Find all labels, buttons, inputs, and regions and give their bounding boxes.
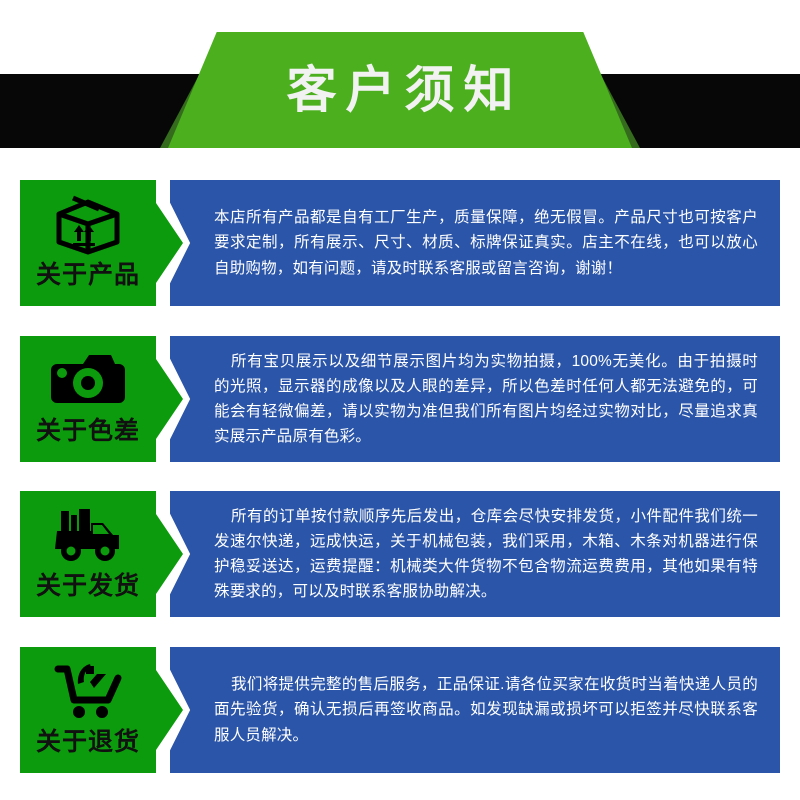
forklift-truck-icon — [44, 500, 132, 570]
icon-label-color: 关于色差 — [36, 419, 140, 444]
notice-text-shipping: 所有的订单按付款顺序先后发出，仓库会尽快安排发货，小件配件我们统一发速尔快递，远… — [214, 504, 758, 604]
icon-label-shipping: 关于发货 — [36, 574, 140, 599]
ribbon-banner: 客户须知 — [168, 32, 632, 148]
notice-text-color: 所有宝贝展示以及细节展示图片均为实物拍摄，100%无美化。由于拍摄时的光照，显示… — [214, 349, 758, 449]
icon-block-return: 关于退货 — [20, 647, 156, 773]
notice-text-product: 本店所有产品都是自有工厂生产，质量保障，绝无假冒。产品尺寸也可按客户要求定制，所… — [214, 205, 758, 280]
notice-text-return: 我们将提供完整的售后服务，正品保证.请各位买家在收货时当着快递人员的面先验货，确… — [214, 672, 758, 747]
text-panel-shipping: 所有的订单按付款顺序先后发出，仓库会尽快安排发货，小件配件我们统一发速尔快递，远… — [170, 491, 780, 617]
notice-section-color: 关于色差 所有宝贝展示以及细节展示图片均为实物拍摄，100%无美化。由于拍摄时的… — [0, 336, 800, 462]
package-box-icon — [44, 189, 132, 259]
icon-label-product: 关于产品 — [36, 263, 140, 288]
page-title: 客户须知 — [278, 65, 523, 115]
text-panel-product: 本店所有产品都是自有工厂生产，质量保障，绝无假冒。产品尺寸也可按客户要求定制，所… — [170, 180, 780, 306]
icon-block-product: 关于产品 — [20, 180, 156, 306]
text-panel-return: 我们将提供完整的售后服务，正品保证.请各位买家在收货时当着快递人员的面先验货，确… — [170, 647, 780, 773]
notice-section-return: 关于退货 我们将提供完整的售后服务，正品保证.请各位买家在收货时当着快递人员的面… — [0, 647, 800, 773]
camera-icon — [44, 345, 132, 415]
notice-section-shipping: 关于发货 所有的订单按付款顺序先后发出，仓库会尽快安排发货，小件配件我们统一发速… — [0, 491, 800, 617]
icon-label-return: 关于退货 — [36, 730, 140, 755]
icon-block-shipping: 关于发货 — [20, 491, 156, 617]
header-banner: 客户须知 — [0, 0, 800, 150]
return-cart-icon — [44, 656, 132, 726]
icon-block-color: 关于色差 — [20, 336, 156, 462]
text-panel-color: 所有宝贝展示以及细节展示图片均为实物拍摄，100%无美化。由于拍摄时的光照，显示… — [170, 336, 780, 462]
notice-section-product: 关于产品 本店所有产品都是自有工厂生产，质量保障，绝无假冒。产品尺寸也可按客户要… — [0, 180, 800, 306]
